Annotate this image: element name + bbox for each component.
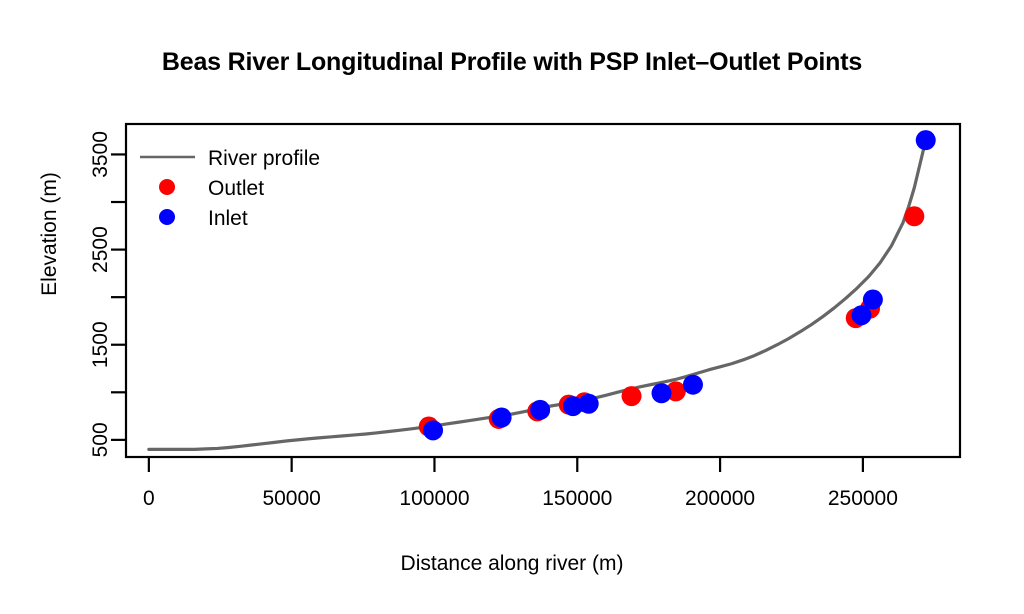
legend-label: River profile <box>208 147 320 170</box>
inlet-point[interactable] <box>492 408 512 428</box>
x-axis-label: Distance along river (m) <box>0 552 1024 576</box>
legend-dot-marker <box>159 179 175 195</box>
legend-label: Inlet <box>208 207 248 230</box>
outlet-point[interactable] <box>904 206 924 226</box>
y-tick-label: 3500 <box>89 131 112 178</box>
inlet-point[interactable] <box>863 290 883 310</box>
chart-legend: River profileOutletInlet <box>140 147 320 230</box>
plot-area: 0500001000001500002000002500005001500250… <box>0 0 1024 614</box>
x-tick-label: 150000 <box>542 487 612 510</box>
x-tick-label: 200000 <box>685 487 755 510</box>
inlet-point[interactable] <box>916 130 936 150</box>
data-layer <box>149 130 936 449</box>
y-axis-label: Elevation (m) <box>38 114 62 354</box>
y-tick-label: 1500 <box>89 321 112 368</box>
legend-dot-marker <box>159 209 175 225</box>
outlet-point[interactable] <box>622 386 642 406</box>
inlet-point[interactable] <box>683 375 703 395</box>
x-tick-label: 250000 <box>828 487 898 510</box>
inlet-point[interactable] <box>423 420 443 440</box>
x-tick-label: 100000 <box>399 487 469 510</box>
inlet-point[interactable] <box>652 383 672 403</box>
y-tick-label: 2500 <box>89 226 112 273</box>
inlet-point[interactable] <box>530 400 550 420</box>
x-tick-label: 0 <box>143 487 155 510</box>
y-tick-label: 500 <box>89 422 112 457</box>
chart-figure: Beas River Longitudinal Profile with PSP… <box>0 0 1024 614</box>
inlet-point[interactable] <box>579 394 599 414</box>
x-tick-label: 50000 <box>262 487 320 510</box>
legend-label: Outlet <box>208 177 264 200</box>
